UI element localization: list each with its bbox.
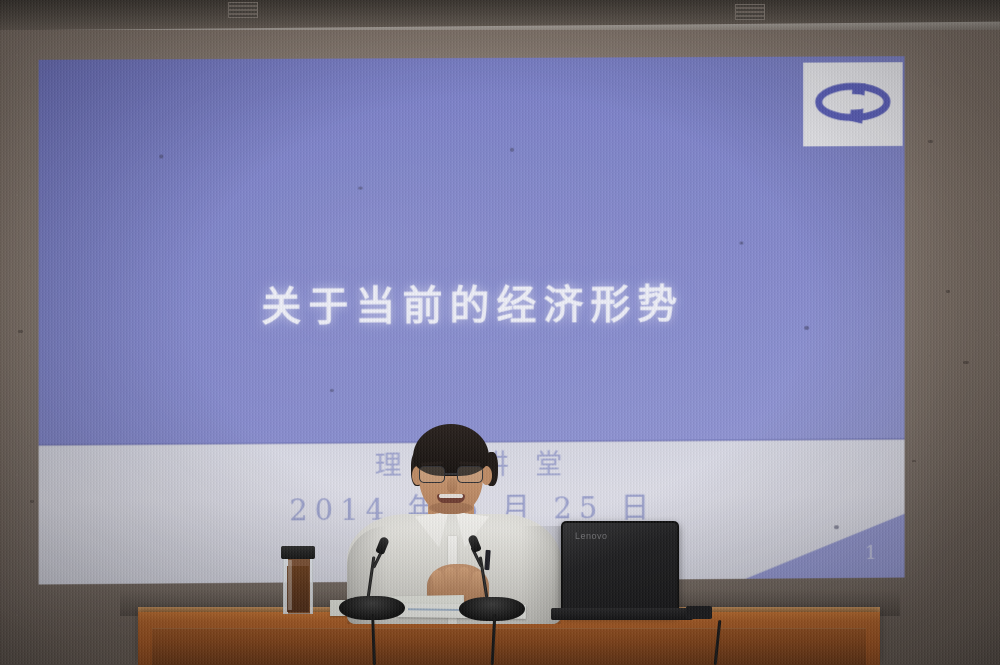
speaker	[355, 418, 555, 618]
screen-dust	[159, 155, 163, 159]
finger	[444, 567, 457, 592]
wall-speck	[928, 140, 933, 143]
wall-speck	[30, 500, 34, 503]
wall-speck	[946, 290, 950, 293]
microphone-base	[459, 597, 525, 621]
screen-dust	[358, 187, 363, 190]
laptop-base	[551, 608, 693, 620]
water-cup-lid	[281, 546, 315, 559]
screen-dust	[330, 389, 334, 392]
lens-right	[457, 466, 483, 483]
slide-logo	[803, 62, 902, 146]
power-adapter	[686, 606, 712, 619]
organization-logo-icon	[814, 75, 892, 133]
finger	[457, 567, 470, 592]
chin-shadow	[429, 502, 473, 514]
photo-scene: 关于当前的经济形势 理 论 讲 堂 2014 年 6 月 25 日 1	[0, 0, 1000, 665]
ceiling-vent-right-icon	[735, 4, 765, 20]
water-cup-highlight	[288, 560, 292, 610]
screen-dust	[510, 148, 514, 152]
wall-speck	[912, 460, 916, 462]
lens-left	[419, 466, 445, 483]
nose	[447, 478, 457, 493]
screen-dust	[804, 326, 809, 330]
glasses-bridge	[445, 473, 457, 475]
wall-speck	[963, 361, 969, 364]
laptop-brand-label: Lenovo	[575, 531, 608, 541]
desk-front-panel	[152, 628, 866, 665]
screen-dust	[834, 525, 839, 529]
slide-title: 关于当前的经济形势	[39, 271, 905, 334]
ceiling-vent-left-icon	[228, 2, 258, 18]
teeth	[439, 494, 463, 498]
wall-speck	[18, 330, 23, 333]
screen-dust	[739, 242, 743, 245]
slide-page-number: 1	[865, 542, 877, 564]
